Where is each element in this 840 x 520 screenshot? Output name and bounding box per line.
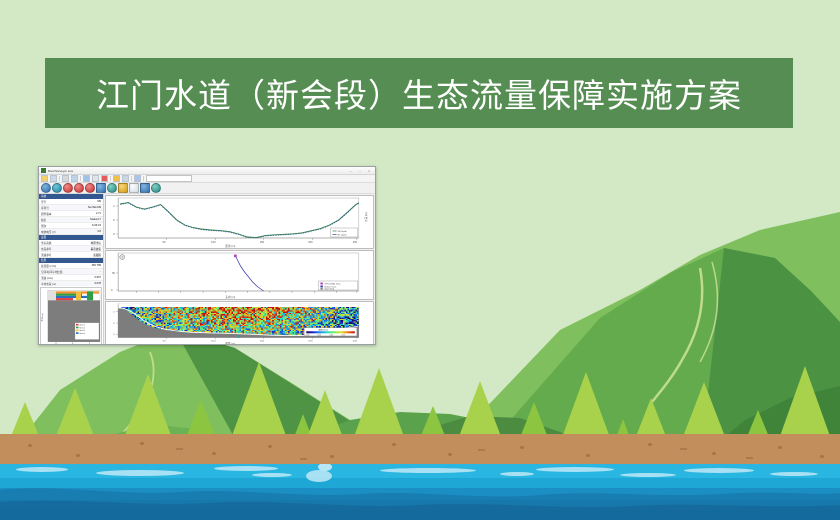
zoom-icon[interactable] — [71, 175, 78, 182]
svg-text:0.50: 0.50 — [330, 335, 334, 337]
tool-button-2-icon[interactable] — [52, 183, 62, 193]
window-title: RiverSurveyor Live — [48, 169, 73, 173]
tool-button-5-icon[interactable] — [85, 183, 95, 193]
velocity-contour-chart[interactable]: 50100 150200250 距离 (m) 259 速度 (m/s) 0.00… — [105, 301, 374, 345]
charts-column: 50100 150200250 距离 (m) 259 水深 (m) VB Dep… — [104, 194, 375, 345]
svg-text:250: 250 — [353, 340, 358, 343]
svg-text:250: 250 — [353, 240, 358, 244]
properties-scroll[interactable]: 系统 型号M9 序列号SonTek-M9 固件版本2.71 站名Station1… — [39, 194, 103, 286]
export-icon[interactable] — [134, 175, 141, 182]
svg-text:0.00: 0.00 — [306, 335, 310, 337]
svg-text:水深 (m): 水深 (m) — [41, 313, 44, 322]
svg-text:VB Depth: VB Depth — [338, 230, 348, 233]
svg-text:100: 100 — [211, 240, 216, 244]
tool-button-10-icon[interactable] — [140, 183, 150, 193]
page-title: 江门水道（新会段）生态流量保障实施方案 — [96, 69, 742, 117]
minimize-icon[interactable]: – — [349, 169, 353, 173]
svg-text:200: 200 — [308, 240, 313, 244]
svg-text:100: 100 — [211, 340, 216, 343]
tool-button-6-icon[interactable] — [96, 183, 106, 193]
compass-calibration-icon[interactable] — [92, 175, 99, 182]
toolbar-separator — [131, 176, 132, 181]
toolbar-small[interactable] — [39, 175, 375, 183]
open-file-icon[interactable] — [41, 175, 48, 182]
app-icon — [41, 168, 46, 173]
svg-text:东向 (m): 东向 (m) — [225, 295, 235, 299]
svg-text:150: 150 — [260, 340, 265, 343]
svg-text:距离 (m): 距离 (m) — [225, 244, 235, 248]
tool-button-1-icon[interactable] — [41, 183, 51, 193]
playback-icon[interactable] — [113, 175, 120, 182]
toolbar-separator — [59, 176, 60, 181]
svg-text:GPS (GGA) Track: GPS (GGA) Track — [324, 282, 340, 285]
maximize-icon[interactable]: ▫ — [358, 169, 362, 173]
tool-button-7-icon[interactable] — [107, 183, 117, 193]
save-file-icon[interactable] — [50, 175, 57, 182]
system-test-icon[interactable] — [83, 175, 90, 182]
window-titlebar[interactable]: RiverSurveyor Live – ▫ × — [39, 167, 375, 175]
property-row: 平均水深 (m)6.078 — [39, 281, 103, 286]
svg-text:Beam 1: Beam 1 — [80, 324, 86, 326]
properties-panel[interactable]: 系统 型号M9 序列号SonTek-M9 固件版本2.71 站名Station1… — [39, 194, 104, 345]
svg-text:Beam 3: Beam 3 — [80, 330, 86, 332]
river-water — [0, 464, 840, 520]
print-icon[interactable] — [62, 175, 69, 182]
tool-button-3-icon[interactable] — [63, 183, 73, 193]
svg-text:Beam 4: Beam 4 — [80, 333, 86, 335]
svg-text:0.75: 0.75 — [342, 335, 346, 337]
svg-text:Start / End: Start / End — [324, 288, 334, 291]
toolbar-separator — [110, 176, 111, 181]
depth-profile-chart[interactable]: 50100 150200250 距离 (m) 259 水深 (m) VB Dep… — [105, 195, 374, 249]
svg-text:BT Depth: BT Depth — [338, 234, 348, 237]
svg-text:距离 (m): 距离 (m) — [225, 341, 235, 344]
svg-text:200: 200 — [308, 340, 313, 343]
toolbar-separator — [80, 176, 81, 181]
close-icon[interactable]: × — [367, 169, 371, 173]
tool-button-4-icon[interactable] — [74, 183, 84, 193]
svg-text:0.25: 0.25 — [317, 335, 321, 337]
measurement-field[interactable] — [146, 175, 192, 182]
tool-button-8-icon[interactable] — [118, 183, 128, 193]
window-body: 系统 型号M9 序列号SonTek-M9 固件版本2.71 站名Station1… — [39, 194, 375, 345]
title-banner: 江门水道（新会段）生态流量保障实施方案 — [45, 58, 793, 128]
recording-icon[interactable] — [101, 175, 108, 182]
settings-icon[interactable] — [122, 175, 129, 182]
app-window[interactable]: RiverSurveyor Live – ▫ × — [38, 166, 376, 345]
toolbar-separator — [143, 176, 144, 181]
river-bank — [0, 434, 840, 466]
toolbar-large[interactable] — [39, 183, 375, 194]
window-controls[interactable]: – ▫ × — [349, 169, 373, 173]
track-plot-chart[interactable]: 500 东向 (m) GPS (GGA) Track Bottom Track … — [105, 250, 374, 300]
tool-button-9-icon[interactable] — [129, 183, 139, 193]
tool-button-11-icon[interactable] — [151, 183, 161, 193]
svg-text:150: 150 — [260, 240, 265, 244]
svg-text:Beam 2: Beam 2 — [80, 327, 86, 329]
discharge-summary-chart[interactable]: -505 水深 (m) Beam 1Beam 2 Beam 3Beam 4 — [40, 287, 102, 345]
svg-text:水深 (m): 水深 (m) — [364, 212, 368, 222]
